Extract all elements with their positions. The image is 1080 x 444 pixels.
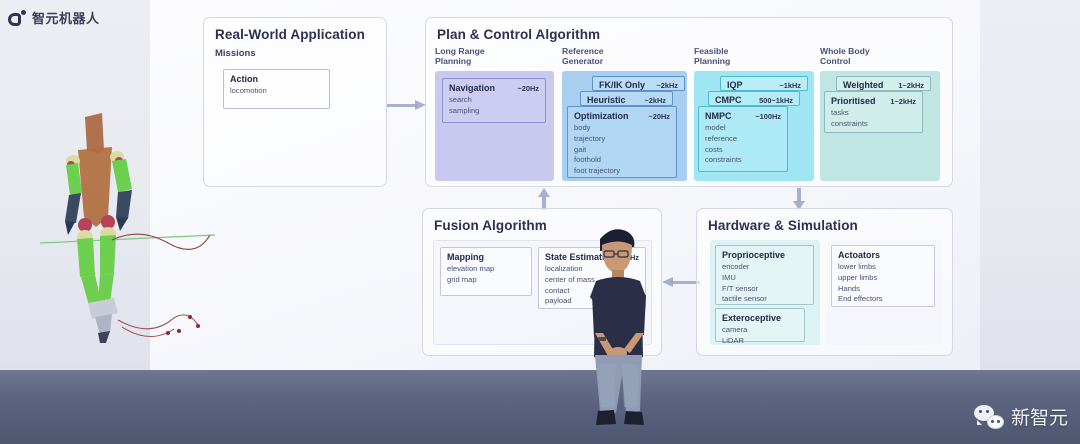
card-action[interactable]: Action locomotion	[223, 69, 330, 109]
group-title-reference-generator: Reference Generator	[562, 46, 687, 67]
card-action-items: locomotion	[230, 86, 323, 97]
card-mapping[interactable]: Mapping elevation map grid map	[440, 247, 532, 296]
stage-floor	[0, 370, 1080, 444]
card-prioritised-head: Prioritised 1~2kHz	[831, 96, 916, 106]
watermark: 新智元	[974, 403, 1068, 430]
card-heuristic-freq: ~2kHz	[634, 96, 666, 105]
card-mapping-name: Mapping	[447, 252, 484, 262]
arrow-fusion-to-plan	[538, 188, 550, 210]
group-title-feasible-planning: Feasible Planning	[694, 46, 814, 67]
panel-title-fusion: Fusion Algorithm	[434, 218, 547, 233]
group-long-range-planning: Long Range Planning	[435, 46, 554, 67]
card-optimization-head: Optimization ~20Hz	[574, 111, 670, 121]
group-reference-generator: Reference Generator	[562, 46, 687, 67]
arrow-plan-to-hardware	[793, 188, 805, 210]
card-weighted[interactable]: Weighted 1~2kHz	[836, 76, 931, 91]
card-optimization[interactable]: Optimization ~20Hz body trajectory gait …	[567, 106, 677, 178]
group-title-long-range-planning: Long Range Planning	[435, 46, 554, 67]
card-proprioceptive[interactable]: Proprioceptive encoder IMU F/T sensor ta…	[715, 245, 814, 305]
card-iqp-name: IQP	[727, 80, 743, 90]
card-fk-ik-head: FK/IK Only ~2kHz	[599, 80, 678, 90]
card-navigation-items: search sampling	[449, 95, 539, 117]
card-navigation-head: Navigation ~20Hz	[449, 83, 539, 93]
card-nmpc-freq: ~100Hz	[745, 112, 781, 121]
group-box-reference-generator: FK/IK Only ~2kHz Heuristic ~2kHz Optimiz…	[562, 71, 687, 181]
card-weighted-head: Weighted 1~2kHz	[843, 80, 924, 90]
card-action-name: Action	[230, 74, 258, 84]
card-exteroceptive[interactable]: Exteroceptive camera LiDAR	[715, 308, 805, 342]
card-iqp-head: IQP ~1kHz	[727, 80, 801, 90]
card-iqp-freq: ~1kHz	[769, 81, 801, 90]
card-actuators-items: lower limbs upper limbs Hands End effect…	[838, 262, 928, 305]
label-missions: Missions	[215, 48, 256, 59]
card-mapping-head: Mapping	[447, 252, 525, 262]
card-nmpc-name: NMPC	[705, 111, 732, 121]
card-actuators-name: Actoators	[838, 250, 880, 260]
group-box-sensors: Proprioceptive encoder IMU F/T sensor ta…	[710, 240, 820, 345]
group-box-feasible-planning: IQP ~1kHz CMPC 500~1kHz NMPC ~100Hz mode…	[694, 71, 814, 181]
card-heuristic-head: Heuristic ~2kHz	[587, 95, 666, 105]
arrow-realworld-to-plan	[387, 100, 427, 110]
card-nmpc[interactable]: NMPC ~100Hz model reference costs constr…	[698, 106, 788, 172]
card-prioritised-items: tasks constraints	[831, 108, 916, 130]
card-optimization-name: Optimization	[574, 111, 629, 121]
agibot-logo-icon	[8, 10, 26, 26]
card-optimization-items: body trajectory gait foothold foot traje…	[574, 123, 670, 177]
card-weighted-name: Weighted	[843, 80, 883, 90]
presentation-screenshot: 智元机器人	[0, 0, 1080, 444]
wechat-icon	[974, 405, 1004, 429]
group-box-whole-body-control: Weighted 1~2kHz Prioritised 1~2kHz tasks…	[820, 71, 940, 181]
card-action-head: Action	[230, 74, 323, 84]
watermark-text: 新智元	[1011, 403, 1068, 430]
panel-plan-control-algorithm: Plan & Control Algorithm Long Range Plan…	[425, 17, 953, 187]
card-actuators[interactable]: Actoators lower limbs upper limbs Hands …	[831, 245, 935, 307]
card-cmpc-head: CMPC 500~1kHz	[715, 95, 793, 105]
card-navigation-freq: ~20Hz	[507, 84, 539, 93]
group-box-actuators: Actoators lower limbs upper limbs Hands …	[827, 240, 941, 345]
panel-title-plan-control: Plan & Control Algorithm	[437, 27, 600, 42]
card-cmpc-freq: 500~1kHz	[749, 96, 793, 105]
card-heuristic[interactable]: Heuristic ~2kHz	[580, 91, 673, 106]
group-title-whole-body-control: Whole Body Control	[820, 46, 940, 67]
card-cmpc[interactable]: CMPC 500~1kHz	[708, 91, 800, 106]
card-actuators-head: Actoators	[838, 250, 928, 260]
group-feasible-planning: Feasible Planning	[694, 46, 814, 67]
card-exteroceptive-head: Exteroceptive	[722, 313, 798, 323]
card-prioritised-freq: 1~2kHz	[880, 97, 916, 106]
card-navigation[interactable]: Navigation ~20Hz search sampling	[442, 78, 546, 123]
presenter-person	[572, 225, 668, 444]
card-proprioceptive-items: encoder IMU F/T sensor tactile sensor	[722, 262, 807, 305]
panel-title-hardware: Hardware & Simulation	[708, 218, 858, 233]
card-cmpc-name: CMPC	[715, 95, 742, 105]
card-proprioceptive-name: Proprioceptive	[722, 250, 785, 260]
card-mapping-items: elevation map grid map	[447, 264, 525, 286]
card-fk-ik-name: FK/IK Only	[599, 80, 645, 90]
card-nmpc-head: NMPC ~100Hz	[705, 111, 781, 121]
card-heuristic-name: Heuristic	[587, 95, 626, 105]
panel-real-world-application: Real-World Application Missions Action l…	[203, 17, 387, 187]
card-prioritised[interactable]: Prioritised 1~2kHz tasks constraints	[824, 91, 923, 133]
card-iqp[interactable]: IQP ~1kHz	[720, 76, 808, 91]
panel-hardware-simulation: Hardware & Simulation Proprioceptive enc…	[696, 208, 953, 356]
brand-logo-text: 智元机器人	[32, 8, 100, 27]
card-proprioceptive-head: Proprioceptive	[722, 250, 807, 260]
card-fk-ik-only[interactable]: FK/IK Only ~2kHz	[592, 76, 685, 91]
card-optimization-freq: ~20Hz	[638, 112, 670, 121]
panel-title-real-world: Real-World Application	[215, 27, 365, 42]
card-navigation-name: Navigation	[449, 83, 495, 93]
card-exteroceptive-name: Exteroceptive	[722, 313, 781, 323]
group-box-long-range-planning: Navigation ~20Hz search sampling	[435, 71, 554, 181]
robot-simulation-figure	[40, 95, 215, 345]
card-exteroceptive-items: camera LiDAR	[722, 325, 798, 347]
brand-logo: 智元机器人	[8, 8, 100, 27]
group-whole-body-control: Whole Body Control	[820, 46, 940, 67]
card-fk-ik-freq: ~2kHz	[646, 81, 678, 90]
card-prioritised-name: Prioritised	[831, 96, 876, 106]
card-weighted-freq: 1~2kHz	[888, 81, 924, 90]
card-nmpc-items: model reference costs constraints	[705, 123, 781, 166]
